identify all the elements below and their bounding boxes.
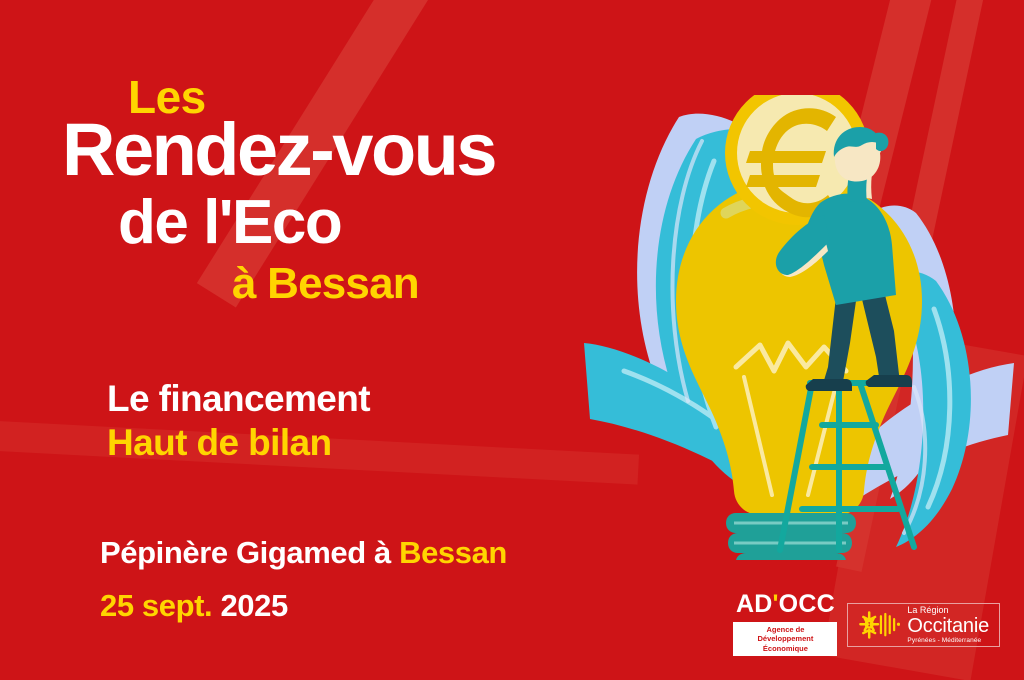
title-line-rendezvous: Rendez-vous [62,113,495,187]
adocc-word-after: OCC [779,590,835,618]
adocc-wordmark: AD'OCC [736,592,835,617]
adocc-word-before: AD [736,590,773,618]
occitan-cross-icon [856,608,900,642]
date-year: 2025 [220,588,287,623]
occitanie-wordmark: La Région Occitanie Pyrénées - Méditerra… [907,606,989,645]
lightbulb-euro-illustration [584,95,1014,560]
occitanie-line3: Pyrénées - Méditerranée [907,638,989,645]
adocc-tagline-line2: Économique [739,644,831,653]
venue-line: Pépinère Gigamed à Bessan [100,537,507,568]
title-line-abessan: à Bessan [232,262,419,306]
adocc-tagline-line1: Agence de Développement [739,625,831,644]
occitanie-logo[interactable]: La Région Occitanie Pyrénées - Méditerra… [847,603,1000,647]
occitanie-line2: Occitanie [907,616,989,636]
logo-bar: AD'OCC Agence de Développement Économiqu… [733,592,1000,658]
date-day-month: 25 sept. [100,588,220,623]
subtitle-line-2: Haut de bilan [107,424,332,461]
title-line-deleco: de l'Eco [118,192,341,254]
subtitle-line-1: Le financement [107,380,370,417]
text-block: Les Rendez-vous de l'Eco à Bessan Le fin… [0,0,620,680]
date-line: 25 sept. 2025 [100,590,288,621]
shoe [866,375,912,387]
shoe [806,379,852,391]
venue-city: Bessan [399,535,507,570]
occitanie-line1: La Région [907,606,989,615]
venue-text: Pépinère Gigamed à [100,535,399,570]
adocc-logo[interactable]: AD'OCC Agence de Développement Économiqu… [733,592,837,658]
event-poster: Les Rendez-vous de l'Eco à Bessan Le fin… [0,0,1024,680]
hair-tuft [876,133,888,151]
adocc-tagline: Agence de Développement Économique [733,622,837,656]
